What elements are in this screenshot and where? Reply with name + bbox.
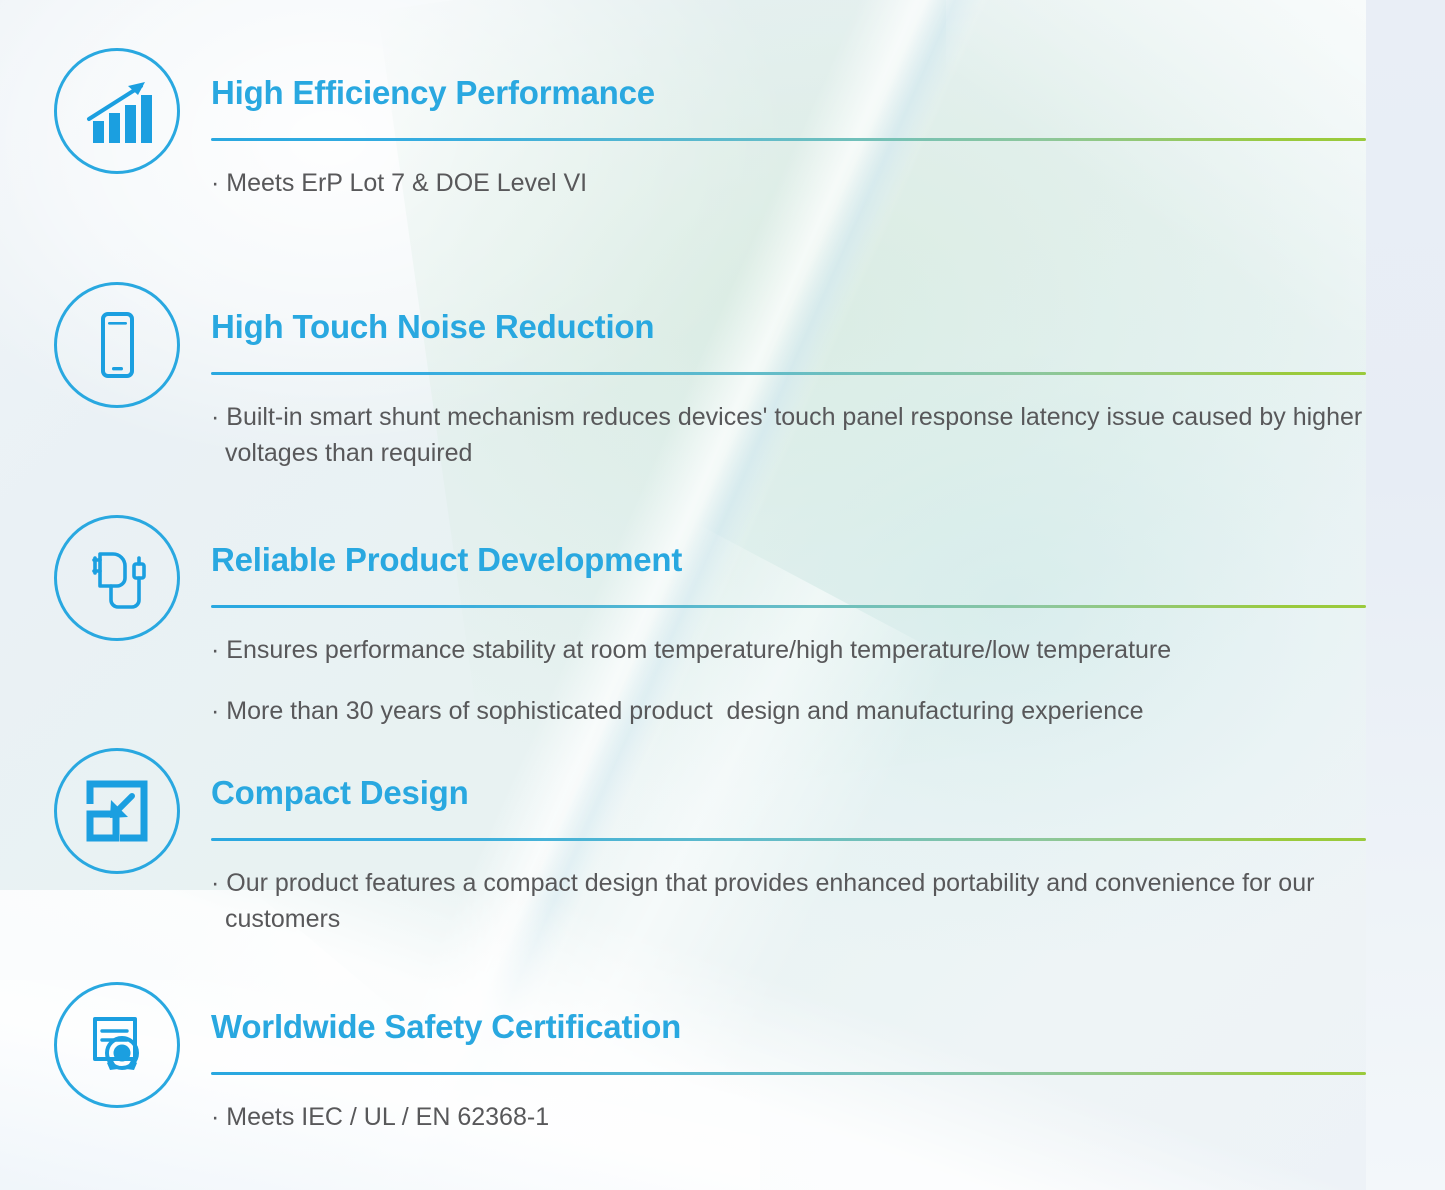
feature-lines: · Our product features a compact design … bbox=[211, 866, 1371, 937]
feature-icon-wrap bbox=[54, 982, 180, 1108]
compact-resize-icon bbox=[54, 748, 180, 874]
feature-body: Worldwide Safety Certification · Meets I… bbox=[211, 982, 1371, 1161]
feature-lines: · Ensures performance stability at room … bbox=[211, 633, 1371, 729]
certificate-award-icon bbox=[54, 982, 180, 1108]
feature-divider bbox=[211, 1072, 1366, 1075]
feature-body: Reliable Product Development · Ensures p… bbox=[211, 515, 1371, 754]
feature-lines: · Meets IEC / UL / EN 62368-1 bbox=[211, 1100, 1371, 1136]
feature-highlights-page: High Efficiency Performance · Meets ErP … bbox=[0, 0, 1445, 1190]
feature-icon-wrap bbox=[54, 748, 180, 874]
feature-divider bbox=[211, 138, 1366, 141]
feature-divider bbox=[211, 838, 1366, 841]
feature-bullet-line: · Meets ErP Lot 7 & DOE Level VI bbox=[211, 166, 1371, 202]
bar-chart-growth-icon bbox=[54, 48, 180, 174]
feature-body: Compact Design · Our product features a … bbox=[211, 748, 1371, 962]
feature-icon-wrap bbox=[54, 515, 180, 641]
feature-body: High Efficiency Performance · Meets ErP … bbox=[211, 48, 1371, 227]
power-adapter-icon bbox=[54, 515, 180, 641]
feature-bullet-line: · Built-in smart shunt mechanism reduces… bbox=[211, 400, 1371, 471]
feature-lines: · Built-in smart shunt mechanism reduces… bbox=[211, 400, 1371, 471]
smartphone-icon bbox=[54, 282, 180, 408]
feature-body: High Touch Noise Reduction · Built-in sm… bbox=[211, 282, 1371, 496]
feature-lines: · Meets ErP Lot 7 & DOE Level VI bbox=[211, 166, 1371, 202]
feature-icon-wrap bbox=[54, 48, 180, 174]
feature-title: Compact Design bbox=[211, 775, 1371, 811]
feature-icon-wrap bbox=[54, 282, 180, 408]
feature-bullet-line: · Ensures performance stability at room … bbox=[211, 633, 1371, 669]
feature-divider bbox=[211, 372, 1366, 375]
feature-title: High Efficiency Performance bbox=[211, 75, 1371, 111]
feature-title: Reliable Product Development bbox=[211, 542, 1371, 578]
feature-bullet-line: · Our product features a compact design … bbox=[211, 866, 1371, 937]
feature-divider bbox=[211, 605, 1366, 608]
feature-list: High Efficiency Performance · Meets ErP … bbox=[0, 0, 1445, 1190]
feature-title: High Touch Noise Reduction bbox=[211, 309, 1371, 345]
feature-bullet-line: · Meets IEC / UL / EN 62368-1 bbox=[211, 1100, 1371, 1136]
feature-title: Worldwide Safety Certification bbox=[211, 1009, 1371, 1045]
feature-bullet-line: · More than 30 years of sophisticated pr… bbox=[211, 694, 1371, 730]
